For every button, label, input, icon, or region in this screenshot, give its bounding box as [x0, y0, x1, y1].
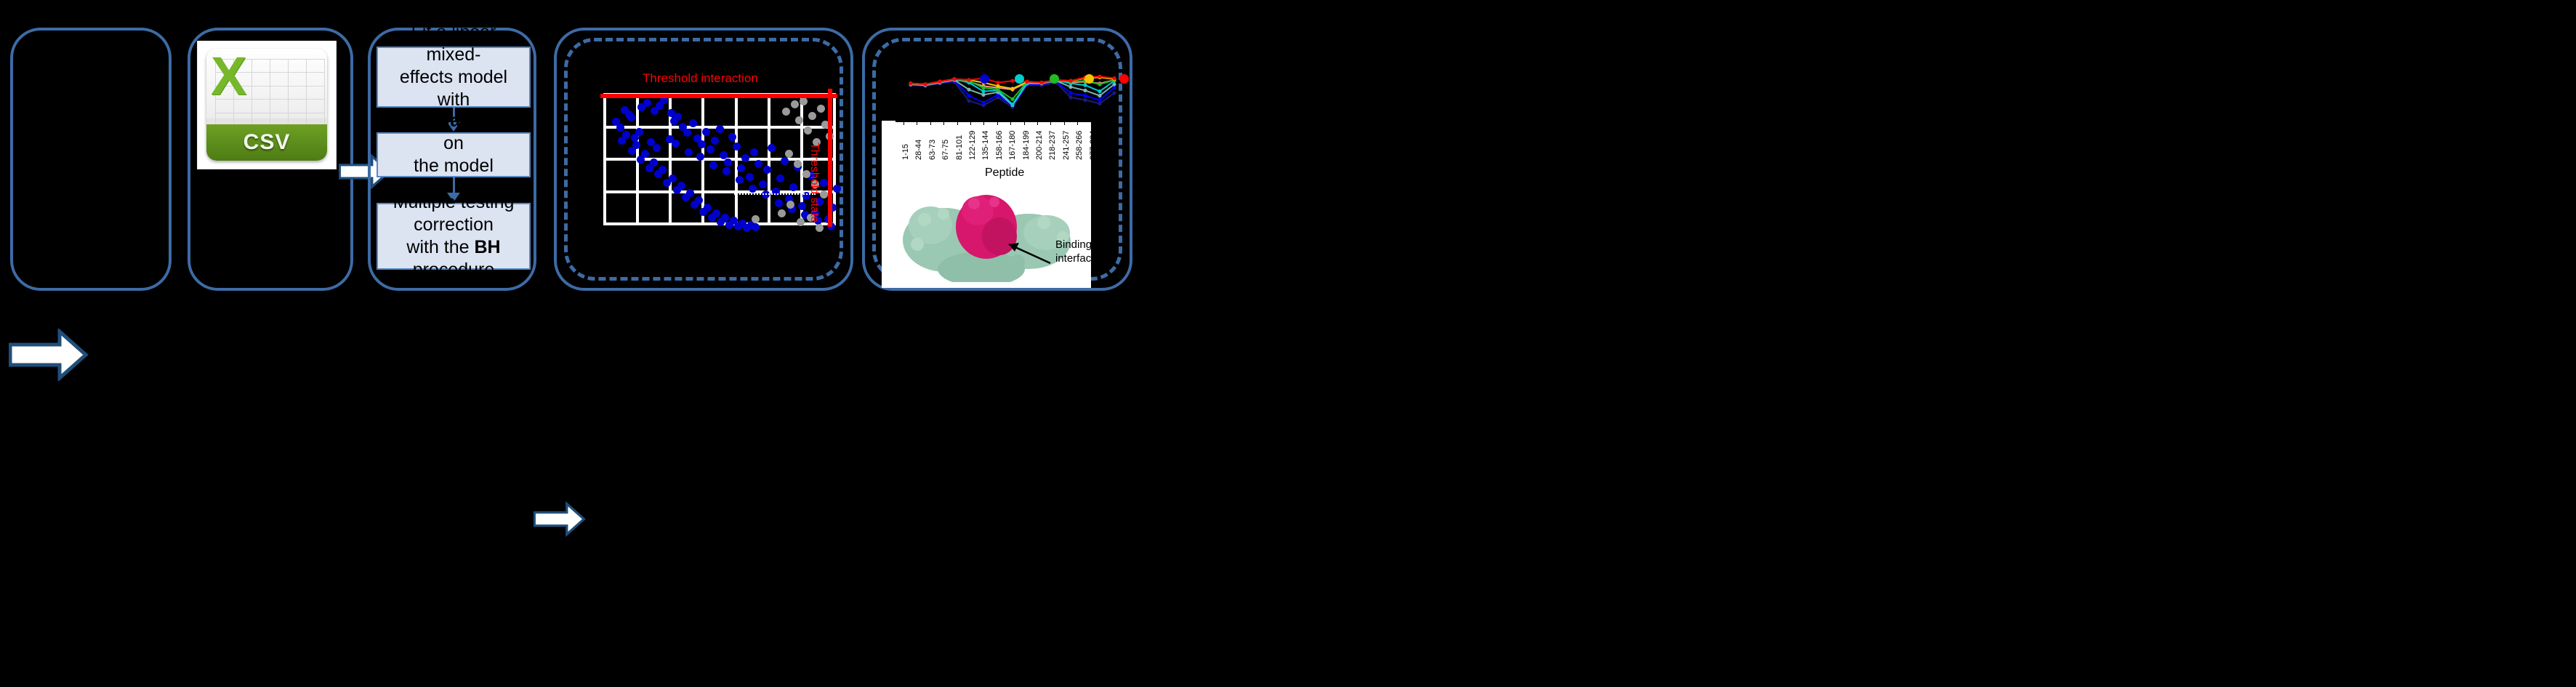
- scatter-point-blue: [723, 167, 730, 175]
- legend-dot: [980, 74, 989, 84]
- wald-pre: Apply: [383, 111, 433, 131]
- scatter-point-grey: [794, 160, 802, 168]
- chart-data-point: [996, 88, 999, 92]
- scatter-point-grey: [797, 218, 805, 226]
- chart-data-point: [1068, 79, 1072, 83]
- chart-data-point: [938, 80, 941, 84]
- scatter-point-blue: [707, 145, 715, 153]
- chart-data-point: [1010, 79, 1014, 83]
- chart-data-point: [981, 86, 985, 89]
- chart-data-point: [1083, 84, 1087, 87]
- bh-post: procedure: [413, 260, 495, 280]
- scatter-point-blue: [635, 128, 643, 136]
- binding-line1: Binding: [1055, 238, 1098, 252]
- scatter-point-blue: [689, 119, 697, 127]
- scatter-point-blue: [754, 160, 762, 168]
- chart-data-point: [1010, 103, 1014, 106]
- scatter-point-blue: [643, 99, 651, 107]
- scatter-point-blue: [737, 164, 745, 172]
- scatter-point-grey: [782, 108, 790, 116]
- arrow-stats-to-results: [534, 497, 586, 541]
- scatter-point-blue: [711, 137, 719, 145]
- csv-band-label: CSV: [243, 130, 291, 155]
- excel-x-glyph: X: [211, 53, 246, 100]
- scatter-point-grey: [791, 100, 799, 108]
- legend-dot: [1119, 74, 1129, 84]
- reml-line1: Fit a linear mixed-: [411, 22, 496, 65]
- scatter-point-blue: [650, 158, 658, 166]
- scatter-point-blue: [702, 128, 710, 136]
- chart-data-point: [1010, 97, 1014, 101]
- scatter-point-blue: [616, 124, 624, 132]
- chart-data-point: [1098, 89, 1101, 93]
- chart-data-point: [1098, 98, 1101, 102]
- scatter-plot: [603, 93, 836, 225]
- scatter-point-blue: [820, 179, 828, 187]
- scatter-point-blue: [798, 202, 806, 210]
- chart-data-point: [952, 77, 956, 81]
- legend-dot: [1015, 74, 1024, 84]
- chart-data-point: [996, 84, 999, 88]
- legend-dot: [1050, 74, 1059, 84]
- scatter-point-blue: [712, 209, 720, 217]
- scatter-point-blue: [659, 166, 667, 174]
- peptide-tick-label: 67-75: [941, 140, 950, 160]
- scatter-point-grey: [785, 150, 793, 158]
- peptide-axis-label: Peptide: [985, 166, 1024, 180]
- chart-data-point: [1083, 98, 1087, 102]
- scatter-point-blue: [669, 174, 677, 182]
- chart-data-point: [981, 89, 985, 93]
- peptide-tick-label: 63-73: [928, 140, 937, 160]
- csv-band: CSV: [206, 124, 327, 161]
- chart-data-point: [923, 82, 927, 86]
- peptide-tick-label: 241-257: [1062, 131, 1071, 160]
- peptide-tick-label: 158-166: [995, 131, 1004, 160]
- arrow-into-input: [9, 329, 89, 381]
- scatter-point-blue: [709, 161, 717, 169]
- scatter-point-grey: [817, 105, 825, 113]
- scatter-point-blue: [833, 185, 841, 193]
- scatter-point-blue: [672, 140, 680, 148]
- peptide-tick-label: 135-144: [981, 131, 990, 160]
- scatter-point-grey: [804, 126, 812, 134]
- scatter-point-grey: [752, 215, 760, 223]
- bh-pre: with the: [406, 237, 474, 257]
- scatter-point-blue: [695, 196, 703, 204]
- scatter-point-blue: [750, 148, 758, 156]
- process-box-reml: Fit a linear mixed- effects model with R…: [377, 47, 531, 108]
- process-box-bh: Multiple testing correction with the BH …: [377, 203, 531, 270]
- bh-line2: correction: [414, 214, 494, 235]
- scatter-point-blue: [759, 180, 767, 188]
- scatter-point-grey: [786, 201, 794, 209]
- scatter-point-blue: [733, 142, 741, 150]
- scatter-point-grey: [820, 190, 828, 198]
- scatter-point-blue: [698, 140, 706, 148]
- threshold-state-line: [828, 89, 832, 227]
- binding-line2: interface: [1055, 252, 1098, 265]
- scatter-point-grey: [808, 112, 816, 120]
- peptide-tick-label: 1-15: [901, 144, 910, 160]
- scatter-point-blue: [763, 166, 771, 174]
- process-box-wald: Apply Wald tests on the model parameters: [377, 132, 531, 177]
- chart-data-point: [981, 101, 985, 105]
- input-panel: [10, 28, 172, 291]
- chart-data-point: [1112, 86, 1116, 89]
- threshold-interaction-line: [600, 94, 837, 98]
- scatter-point-blue: [749, 185, 757, 193]
- x-axis-line: [895, 121, 1096, 122]
- scatter-point-blue: [696, 153, 704, 161]
- scatter-point-blue: [716, 125, 724, 133]
- scatter-point-blue: [724, 158, 732, 166]
- csv-tile: X CSV: [206, 49, 327, 161]
- protein-structure-image: [901, 182, 1074, 282]
- scatter-point-blue: [736, 176, 744, 184]
- chart-data-point: [909, 81, 912, 85]
- peptide-tick-label: 28-44: [914, 140, 923, 160]
- bh-bold: BH: [475, 237, 501, 257]
- chart-data-point: [1025, 80, 1029, 84]
- wald-post: on: [443, 133, 464, 153]
- reml-line2: effects model with: [400, 67, 507, 110]
- y-axis-tick-label: 0.0: [899, 111, 912, 121]
- scatter-point-blue: [632, 141, 640, 149]
- scatter-point-blue: [641, 150, 649, 158]
- chart-data-point: [1068, 85, 1072, 89]
- chart-data-point: [1068, 91, 1072, 95]
- scatter-point-blue: [677, 182, 685, 190]
- threshold-state-label: Threshold state: [808, 142, 821, 222]
- chart-data-point: [1112, 82, 1116, 86]
- binding-interface-annotation: Binding interface: [1055, 238, 1098, 265]
- scatter-point-blue: [768, 144, 776, 152]
- chart-data-point: [1083, 89, 1087, 92]
- chart-data-point: [967, 88, 970, 92]
- chart-data-point: [967, 94, 970, 97]
- chart-data-point: [1039, 81, 1043, 84]
- scatter-point-blue: [789, 183, 797, 191]
- scatter-point-grey: [778, 209, 786, 217]
- peptide-tick-label: 81-101: [955, 135, 964, 160]
- scatter-point-blue: [741, 154, 749, 162]
- chart-data-point: [967, 99, 970, 103]
- process-box-bh-text: Multiple testing correction with the BH …: [382, 191, 525, 281]
- peptide-tick-label: 122-129: [968, 131, 977, 160]
- scatter-point-blue: [622, 131, 630, 139]
- chart-data-point: [1098, 102, 1101, 105]
- chart-data-point: [996, 81, 999, 84]
- scatter-point-blue: [686, 189, 694, 197]
- chart-data-point: [1112, 91, 1116, 95]
- scatter-point-blue: [653, 144, 661, 152]
- scatter-point-blue: [746, 173, 754, 181]
- chart-data-point: [1068, 95, 1072, 99]
- chart-data-point: [1083, 94, 1087, 97]
- peptide-tick-label: 258-266: [1075, 131, 1084, 160]
- chart-data-point: [1098, 82, 1101, 86]
- scatter-point-blue: [728, 133, 736, 141]
- peptide-tick-label: 218-237: [1048, 131, 1057, 160]
- chart-data-point: [967, 78, 970, 81]
- scatter-point-blue: [685, 148, 693, 156]
- chart-data-point: [1010, 87, 1014, 90]
- peptide-tick-label: 277-284: [1089, 131, 1098, 160]
- scatter-point-blue: [752, 223, 760, 231]
- scatter-point-grey: [800, 97, 808, 105]
- chart-data-point: [981, 93, 985, 97]
- scatter-point-blue: [776, 174, 784, 182]
- scatter-point-blue: [781, 157, 789, 165]
- peptide-tick-label: 184-199: [1022, 131, 1031, 160]
- peptide-tick-label: 167-180: [1008, 131, 1017, 160]
- scatter-point-grey: [816, 224, 824, 232]
- chart-data-point: [1098, 75, 1101, 79]
- peptide-tick-label: 200-214: [1035, 131, 1044, 160]
- threshold-interaction-label: Threshold interaction: [643, 71, 758, 86]
- peptide-tick-labels: 1-1528-4463-7367-7581-101122-129135-1441…: [895, 125, 1096, 160]
- legend-dot: [1084, 74, 1094, 84]
- scatter-point-blue: [674, 113, 682, 121]
- scatter-point-blue: [683, 129, 691, 137]
- scatter-point-blue: [775, 199, 783, 207]
- dotted-reference-line: [734, 193, 816, 195]
- scatter-point-blue: [704, 204, 712, 212]
- scatter-point-grey: [795, 116, 803, 124]
- csv-file-icon: X CSV: [198, 41, 336, 169]
- scatter-point-blue: [627, 113, 635, 121]
- chart-data-point: [1112, 76, 1116, 80]
- chart-data-point: [1098, 94, 1101, 97]
- wald-bold: Wald tests: [434, 111, 524, 131]
- bh-line1: Multiple testing: [393, 192, 515, 212]
